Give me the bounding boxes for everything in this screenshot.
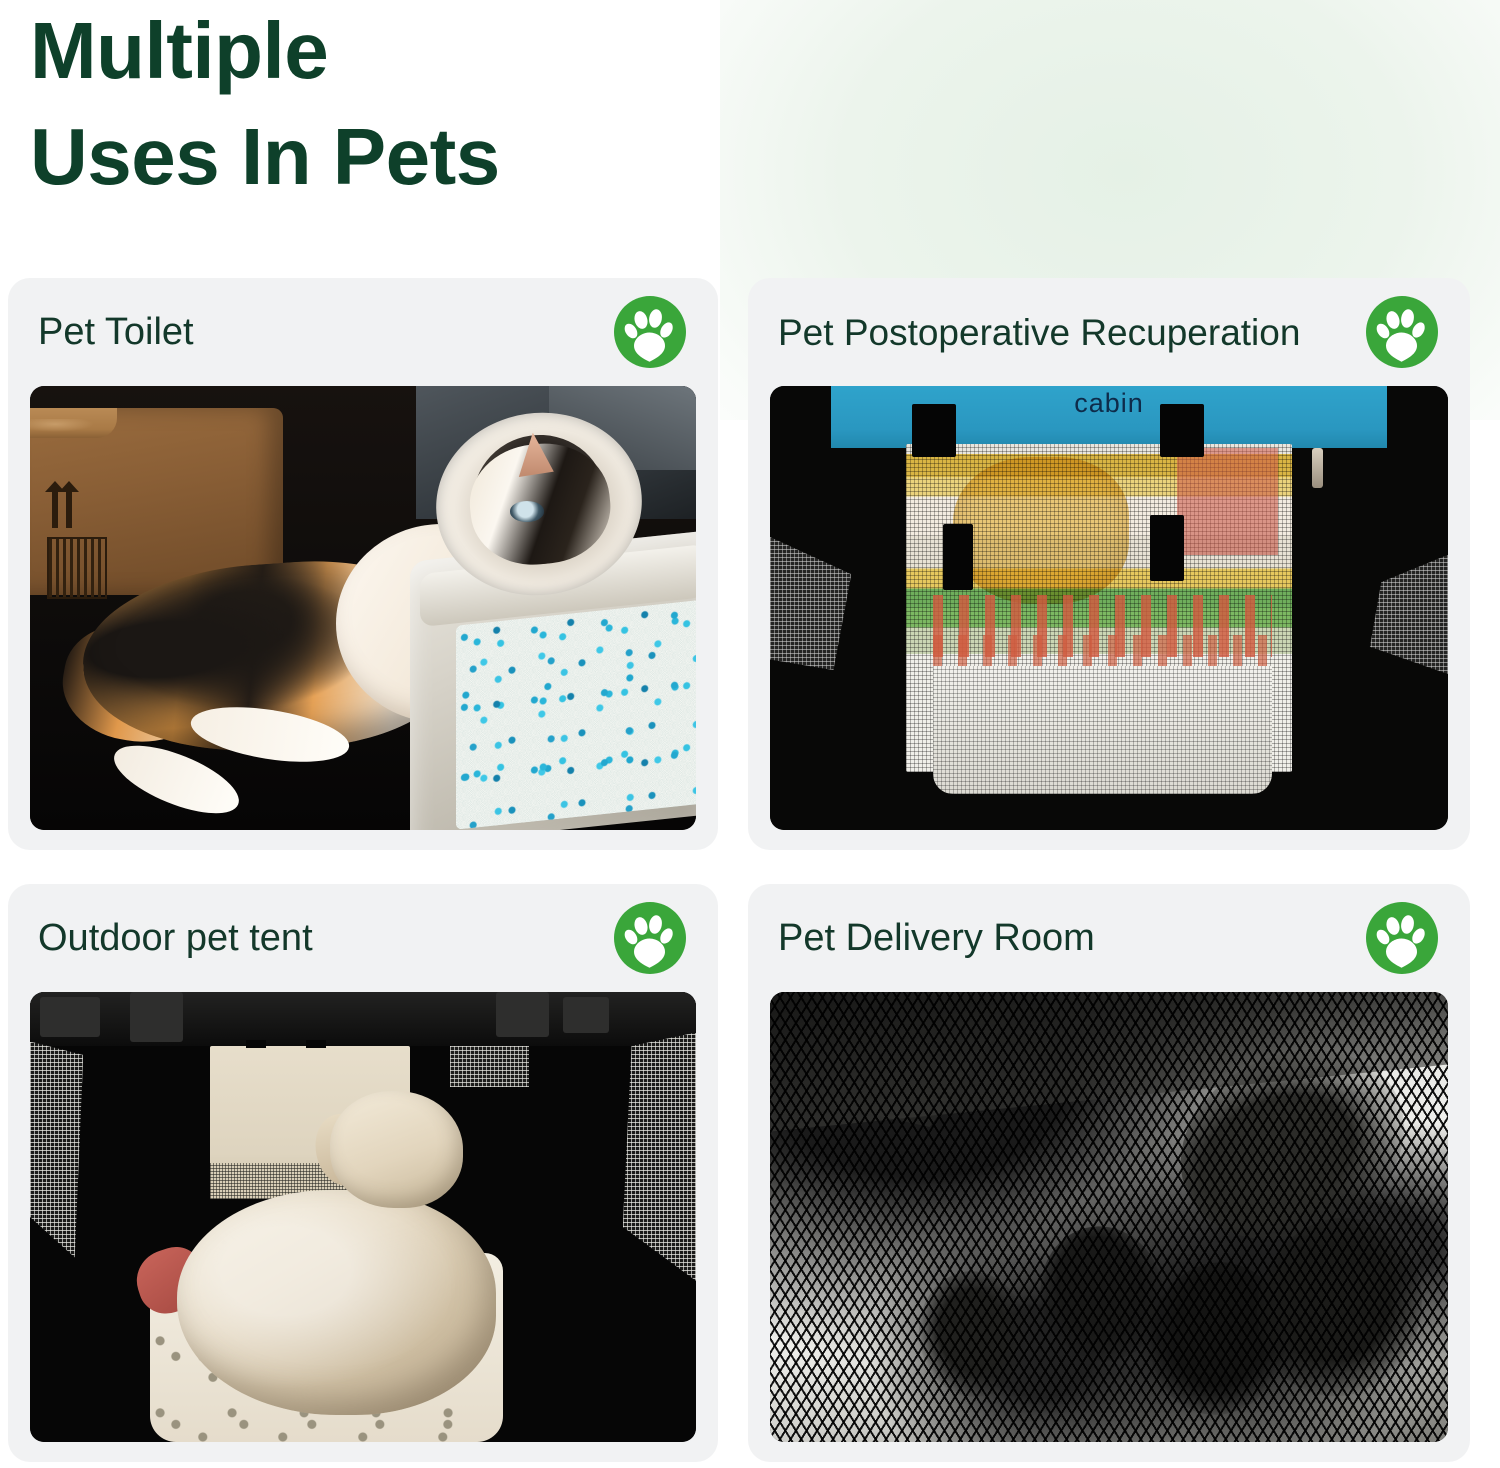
paw-icon	[1366, 902, 1438, 974]
card-pet-toilet[interactable]: Pet Toilet	[8, 278, 718, 850]
infographic-page: Multiple Uses In Pets Pet Toilet	[0, 0, 1500, 1468]
paw-icon	[1366, 296, 1438, 368]
card-photo-outdoor-pet-tent	[30, 992, 696, 1442]
card-header: Pet Toilet	[8, 278, 718, 386]
card-pet-delivery-room[interactable]: Pet Delivery Room	[748, 884, 1470, 1462]
fabric-label-text: cabin	[770, 388, 1448, 419]
card-header: Pet Delivery Room	[748, 884, 1470, 992]
paw-icon	[614, 296, 686, 368]
card-pet-postoperative-recuperation[interactable]: Pet Postoperative Recuperation cabin	[748, 278, 1470, 850]
card-photo-pet-postoperative-recuperation: cabin	[770, 386, 1448, 830]
page-title-line-2: Uses In Pets	[30, 104, 830, 210]
card-title: Pet Toilet	[38, 313, 194, 351]
card-title: Pet Delivery Room	[778, 919, 1095, 957]
page-title-line-1: Multiple	[30, 0, 830, 104]
card-header: Outdoor pet tent	[8, 884, 718, 992]
card-outdoor-pet-tent[interactable]: Outdoor pet tent	[8, 884, 718, 1462]
paw-icon	[614, 902, 686, 974]
card-photo-pet-delivery-room	[770, 992, 1448, 1442]
card-title: Outdoor pet tent	[38, 919, 313, 957]
page-title: Multiple Uses In Pets	[30, 0, 830, 209]
card-header: Pet Postoperative Recuperation	[748, 278, 1470, 386]
card-photo-pet-toilet	[30, 386, 696, 830]
card-title: Pet Postoperative Recuperation	[778, 314, 1300, 351]
